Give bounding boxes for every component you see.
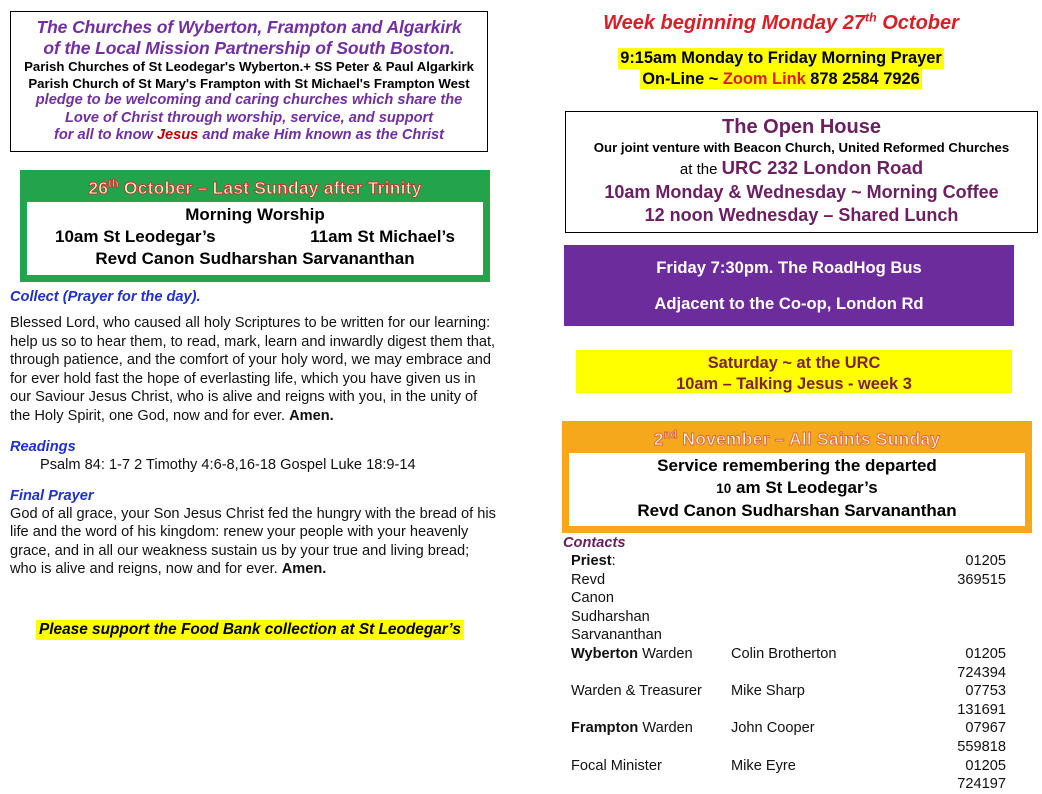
contacts-section: Contacts Priest: Revd Canon Sudharshan S… — [563, 534, 1033, 794]
all-saints-date-number: 2 — [654, 429, 664, 449]
masthead-line-1: The Churches of Wyberton, Frampton and A… — [15, 17, 483, 38]
contact-row: Priest: Revd Canon Sudharshan Sarvananth… — [563, 552, 1033, 645]
contact-name: Mike Eyre — [731, 757, 921, 776]
open-house-box: The Open House Our joint venture with Be… — [565, 111, 1038, 233]
service-date-number: 26 — [88, 178, 108, 198]
masthead-pledge-1: pledge to be welcoming and caring church… — [15, 92, 483, 110]
all-saints-time-row: 10 am St Leodegar’s — [575, 477, 1019, 500]
open-house-line-2: 12 noon Wednesday – Shared Lunch — [569, 204, 1034, 227]
week-heading: Week beginning Monday 27th October — [520, 11, 1042, 35]
final-prayer-amen: Amen. — [282, 561, 327, 577]
open-house-address-row: at the URC 232 London Road — [569, 156, 1034, 181]
contact-row: Frampton WardenJohn Cooper07967 559818 — [563, 719, 1033, 756]
contact-role: Frampton Warden — [571, 719, 731, 738]
bus-line-1: Friday 7:30pm. The RoadHog Bus — [564, 250, 1014, 286]
morning-prayer-line-1: 9:15am Monday to Friday Morning Prayer — [618, 48, 944, 69]
contact-phone: 07753 131691 — [921, 682, 1033, 719]
sunday-service-box: 26th October – Last Sunday after Trinity… — [20, 170, 490, 282]
contact-row: Warden & TreasurerMike Sharp07753 131691 — [563, 682, 1033, 719]
morning-prayer-line-2: On-Line ~ Zoom Link 878 2584 7926 — [640, 69, 921, 90]
sunday-service-date: 26th October – Last Sunday after Trinity — [27, 177, 483, 202]
contact-name: Colin Brotherton — [731, 645, 921, 664]
all-saints-date: 2nd November – All Saints Sunday — [569, 428, 1025, 453]
saturday-line-2: 10am – Talking Jesus - week 3 — [576, 374, 1012, 395]
contact-phone: 01205 724197 — [921, 757, 1033, 794]
masthead-box: The Churches of Wyberton, Frampton and A… — [10, 11, 488, 152]
service-title: Morning Worship — [33, 204, 477, 226]
all-saints-box: 2nd November – All Saints Sunday Service… — [562, 421, 1032, 533]
collect-heading: Collect (Prayer for the day). — [10, 288, 496, 306]
sunday-service-details: Morning Worship 10am St Leodegar’s 11am … — [27, 202, 483, 275]
all-saints-date-rest: November – All Saints Sunday — [677, 429, 940, 449]
contact-row: Wyberton WardenColin Brotherton01205 724… — [563, 645, 1033, 682]
all-saints-time-number: 10 — [716, 481, 731, 496]
service-minister: Revd Canon Sudharshan Sarvananthan — [33, 248, 477, 270]
pledge-3-post: and make Him known as the Christ — [198, 127, 444, 143]
contact-row: Focal MinisterMike Eyre01205 724197 — [563, 757, 1033, 794]
contact-name: Mike Sharp — [731, 682, 921, 701]
collect-body: Blessed Lord, who caused all holy Script… — [10, 314, 496, 426]
week-heading-pre: Week beginning Monday 27 — [603, 12, 865, 34]
final-prayer-body: God of all grace, your Son Jesus Christ … — [10, 505, 496, 579]
morning-prayer-notice: 9:15am Monday to Friday Morning Prayer O… — [520, 48, 1042, 89]
all-saints-minister: Revd Canon Sudharshan Sarvananthan — [575, 500, 1019, 522]
pledge-3-pre: for all to know — [54, 127, 157, 143]
open-house-subtitle: Our joint venture with Beacon Church, Un… — [569, 139, 1034, 156]
food-bank-notice: Please support the Food Bank collection … — [36, 620, 464, 640]
zoom-meeting-id: 878 2584 7926 — [806, 70, 920, 88]
zoom-link[interactable]: Zoom Link — [723, 70, 806, 88]
open-house-title: The Open House — [569, 115, 1034, 139]
mp-online: On-Line ~ — [642, 70, 723, 88]
contact-name: John Cooper — [731, 719, 921, 738]
mp-time: 9:15am — [620, 49, 681, 67]
service-date-ordinal: th — [108, 178, 119, 190]
contact-role: Warden & Treasurer — [571, 682, 731, 701]
saturday-line-1: Saturday ~ at the URC — [576, 353, 1012, 374]
open-house-address: URC 232 London Road — [722, 157, 923, 178]
masthead-line-2: of the Local Mission Partnership of Sout… — [15, 38, 483, 59]
service-time-right: 11am St Michael’s — [310, 226, 455, 248]
all-saints-line-1: Service remembering the departed — [575, 455, 1019, 477]
all-saints-time-rest: am St Leodegar’s — [731, 478, 877, 497]
contact-role: Priest: Revd Canon Sudharshan Sarvananth… — [571, 552, 635, 645]
left-column: The Churches of Wyberton, Frampton and A… — [0, 0, 520, 659]
all-saints-details: Service remembering the departed 10 am S… — [569, 453, 1025, 526]
saturday-urc-box: Saturday ~ at the URC 10am – Talking Jes… — [576, 350, 1012, 393]
all-saints-date-ordinal: nd — [664, 429, 678, 441]
service-times-row: 10am St Leodegar’s 11am St Michael’s — [33, 226, 477, 248]
masthead-parish-1: Parish Churches of St Leodegar's Wyberto… — [15, 59, 483, 76]
masthead-pledge-2: Love of Christ through worship, service,… — [15, 110, 483, 128]
contact-phone: 01205 724394 — [921, 645, 1033, 682]
open-house-at-label: at the — [680, 161, 722, 178]
collect-text: Blessed Lord, who caused all holy Script… — [10, 315, 495, 424]
final-prayer-heading: Final Prayer — [10, 487, 496, 505]
week-heading-ordinal: th — [865, 10, 877, 24]
readings-heading: Readings — [10, 438, 496, 456]
final-prayer-text: God of all grace, your Son Jesus Christ … — [10, 506, 496, 578]
open-house-line-1: 10am Monday & Wednesday ~ Morning Coffee — [569, 181, 1034, 204]
roadhog-bus-box: Friday 7:30pm. The RoadHog Bus Adjacent … — [564, 245, 1014, 326]
week-heading-post: October — [877, 12, 959, 34]
bus-line-2: Adjacent to the Co-op, London Rd — [564, 286, 1014, 322]
service-time-left: 10am St Leodegar’s — [55, 226, 216, 248]
contact-phone: 07967 559818 — [921, 719, 1033, 756]
mp-rest: to Friday Morning Prayer — [743, 49, 942, 67]
contact-role: Focal Minister — [571, 757, 731, 776]
contact-role: Wyberton Warden — [571, 645, 731, 664]
mp-monday: Monday — [681, 49, 743, 67]
prayers-section: Collect (Prayer for the day). Blessed Lo… — [10, 288, 496, 579]
contacts-list: Priest: Revd Canon Sudharshan Sarvananth… — [563, 552, 1033, 794]
collect-amen: Amen. — [289, 408, 334, 424]
contact-phone: 01205 369515 — [921, 552, 1033, 589]
service-date-rest: October – Last Sunday after Trinity — [119, 178, 422, 198]
masthead-pledge-3: for all to know Jesus and make Him known… — [15, 127, 483, 145]
contacts-title: Contacts — [563, 534, 1033, 552]
jesus-word: Jesus — [157, 127, 198, 143]
masthead-parish-2: Parish Church of St Mary's Frampton with… — [15, 76, 483, 93]
readings-line: Psalm 84: 1-7 2 Timothy 4:6-8,16-18 Gosp… — [10, 456, 496, 475]
